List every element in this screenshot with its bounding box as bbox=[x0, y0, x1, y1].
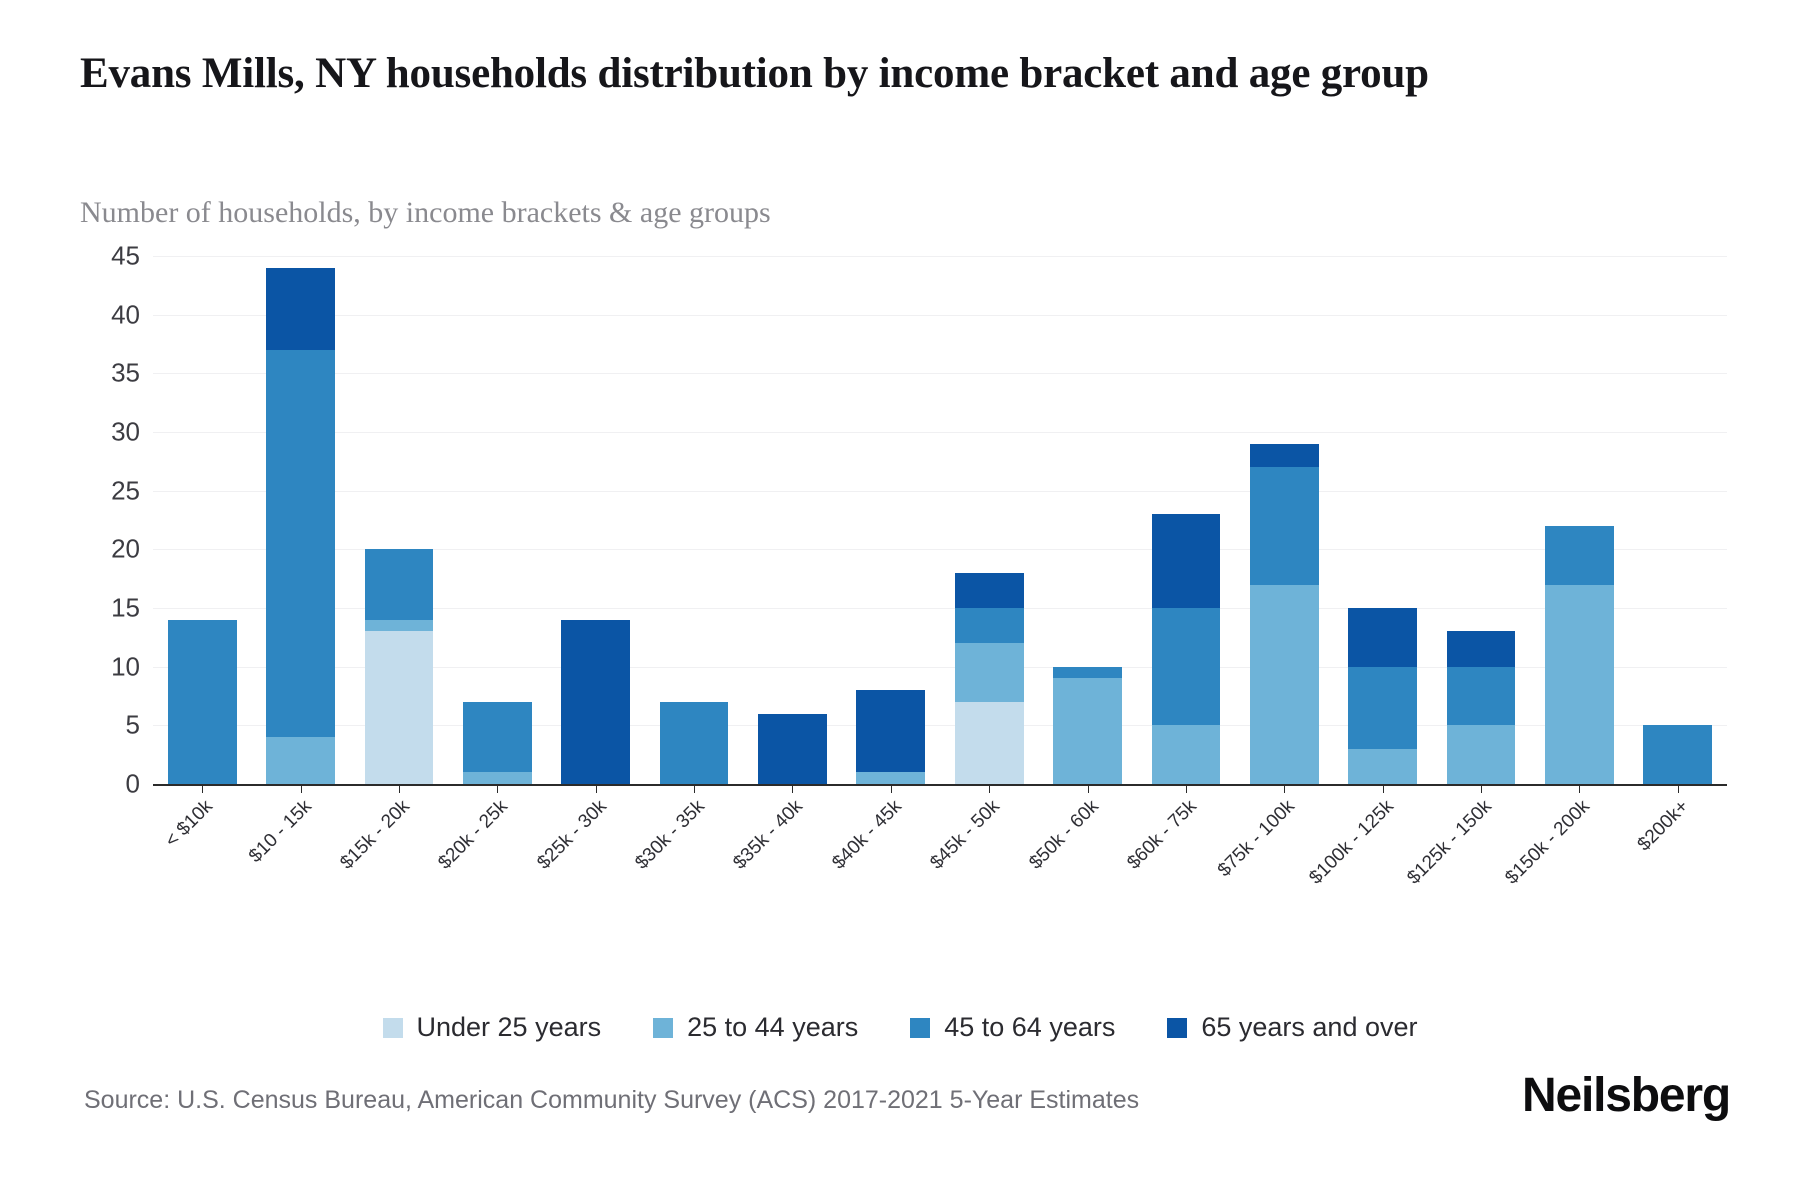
bar-segment[interactable] bbox=[1152, 608, 1221, 725]
bar-segment[interactable] bbox=[266, 737, 335, 784]
legend-swatch-icon bbox=[1167, 1018, 1187, 1038]
y-axis-tick-label: 0 bbox=[20, 769, 140, 800]
legend-swatch-icon bbox=[653, 1018, 673, 1038]
chart-legend: Under 25 years25 to 44 years45 to 64 yea… bbox=[0, 1012, 1800, 1043]
bar-stack[interactable] bbox=[1250, 256, 1319, 784]
x-axis-line bbox=[153, 784, 1727, 786]
bar-stack[interactable] bbox=[1545, 256, 1614, 784]
y-axis-tick-label: 30 bbox=[20, 417, 140, 448]
bar-segment[interactable] bbox=[1447, 631, 1516, 666]
x-axis-tick-mark bbox=[1088, 784, 1089, 793]
bar-segment[interactable] bbox=[955, 573, 1024, 608]
x-axis-tick-mark bbox=[1481, 784, 1482, 793]
x-axis-tick-mark bbox=[1579, 784, 1580, 793]
x-axis-tick-mark bbox=[202, 784, 203, 793]
bar-stack[interactable] bbox=[1643, 256, 1712, 784]
bar-segment[interactable] bbox=[1152, 514, 1221, 608]
bar-segment[interactable] bbox=[1348, 667, 1417, 749]
source-note: Source: U.S. Census Bureau, American Com… bbox=[84, 1086, 1139, 1115]
bar-stack[interactable] bbox=[758, 256, 827, 784]
x-axis-tick-mark bbox=[1284, 784, 1285, 793]
bar-segment[interactable] bbox=[365, 549, 434, 619]
bar-segment[interactable] bbox=[1053, 667, 1122, 679]
bar-segment[interactable] bbox=[856, 690, 925, 772]
bar-segment[interactable] bbox=[266, 350, 335, 737]
legend-item[interactable]: 65 years and over bbox=[1167, 1012, 1417, 1043]
bar-segment[interactable] bbox=[1545, 526, 1614, 585]
bar-stack[interactable] bbox=[856, 256, 925, 784]
bar-stack[interactable] bbox=[955, 256, 1024, 784]
x-axis-tick-mark bbox=[1678, 784, 1679, 793]
bar-stack[interactable] bbox=[561, 256, 630, 784]
bar-segment[interactable] bbox=[1643, 725, 1712, 784]
bar-segment[interactable] bbox=[1250, 585, 1319, 784]
page-subtitle: Number of households, by income brackets… bbox=[80, 196, 1480, 230]
legend-item[interactable]: Under 25 years bbox=[383, 1012, 602, 1043]
bar-segment[interactable] bbox=[856, 772, 925, 784]
bar-segment[interactable] bbox=[365, 620, 434, 632]
bar-stack[interactable] bbox=[1152, 256, 1221, 784]
bar-segment[interactable] bbox=[1152, 725, 1221, 784]
bar-segment[interactable] bbox=[463, 702, 532, 772]
bar-segment[interactable] bbox=[955, 643, 1024, 702]
bar-segment[interactable] bbox=[1545, 585, 1614, 784]
bar-segment[interactable] bbox=[1053, 678, 1122, 784]
x-axis-tick-mark bbox=[497, 784, 498, 793]
x-axis-tick-mark bbox=[1383, 784, 1384, 793]
chart-page: Evans Mills, NY households distribution … bbox=[0, 0, 1800, 1200]
x-axis-tick-mark bbox=[596, 784, 597, 793]
y-axis-tick-label: 40 bbox=[20, 299, 140, 330]
y-axis-tick-label: 15 bbox=[20, 593, 140, 624]
x-axis-tick-mark bbox=[301, 784, 302, 793]
bar-stack[interactable] bbox=[1053, 256, 1122, 784]
legend-label: Under 25 years bbox=[417, 1012, 602, 1043]
legend-swatch-icon bbox=[383, 1018, 403, 1038]
bar-segment[interactable] bbox=[955, 608, 1024, 643]
bar-segment[interactable] bbox=[168, 620, 237, 784]
bar-segment[interactable] bbox=[1447, 725, 1516, 784]
legend-label: 65 years and over bbox=[1201, 1012, 1417, 1043]
x-axis-tick-mark bbox=[989, 784, 990, 793]
bar-segment[interactable] bbox=[561, 620, 630, 784]
bar-segment[interactable] bbox=[1348, 608, 1417, 667]
bar-segment[interactable] bbox=[758, 714, 827, 784]
brand-logo: Neilsberg bbox=[1522, 1068, 1730, 1123]
legend-item[interactable]: 45 to 64 years bbox=[910, 1012, 1115, 1043]
bar-stack[interactable] bbox=[266, 256, 335, 784]
y-axis-tick-label: 35 bbox=[20, 358, 140, 389]
y-axis-tick-label: 25 bbox=[20, 475, 140, 506]
plot-area bbox=[153, 256, 1727, 784]
legend-swatch-icon bbox=[910, 1018, 930, 1038]
bar-stack[interactable] bbox=[463, 256, 532, 784]
bar-segment[interactable] bbox=[365, 631, 434, 784]
x-axis-tick-mark bbox=[1186, 784, 1187, 793]
x-axis-tick-mark bbox=[399, 784, 400, 793]
bar-segment[interactable] bbox=[1348, 749, 1417, 784]
y-axis-tick-label: 5 bbox=[20, 710, 140, 741]
bar-stack[interactable] bbox=[1348, 256, 1417, 784]
bar-segment[interactable] bbox=[955, 702, 1024, 784]
y-axis-tick-label: 10 bbox=[20, 651, 140, 682]
bar-stack[interactable] bbox=[365, 256, 434, 784]
bar-segment[interactable] bbox=[266, 268, 335, 350]
bar-segment[interactable] bbox=[660, 702, 729, 784]
bar-segment[interactable] bbox=[463, 772, 532, 784]
bar-stack[interactable] bbox=[168, 256, 237, 784]
x-axis-tick-mark bbox=[891, 784, 892, 793]
y-axis-tick-label: 20 bbox=[20, 534, 140, 565]
x-axis-tick-mark bbox=[694, 784, 695, 793]
bar-segment[interactable] bbox=[1250, 467, 1319, 584]
bar-stack[interactable] bbox=[1447, 256, 1516, 784]
legend-item[interactable]: 25 to 44 years bbox=[653, 1012, 858, 1043]
y-axis-tick-label: 45 bbox=[20, 241, 140, 272]
legend-label: 45 to 64 years bbox=[944, 1012, 1115, 1043]
bar-segment[interactable] bbox=[1447, 667, 1516, 726]
page-title: Evans Mills, NY households distribution … bbox=[80, 48, 1640, 100]
x-axis-tick-mark bbox=[792, 784, 793, 793]
bar-stack[interactable] bbox=[660, 256, 729, 784]
legend-label: 25 to 44 years bbox=[687, 1012, 858, 1043]
bar-segment[interactable] bbox=[1250, 444, 1319, 467]
